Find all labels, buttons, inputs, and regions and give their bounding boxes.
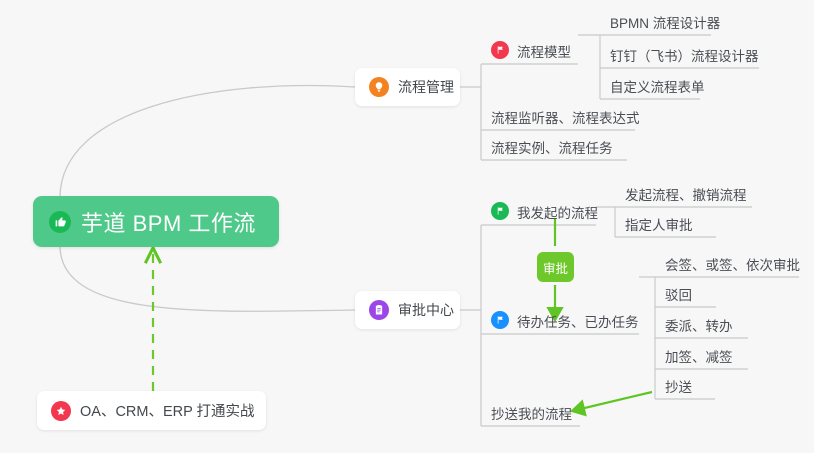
root-node[interactable]: 芋道 BPM 工作流	[33, 196, 279, 247]
flag-icon	[491, 311, 509, 329]
flag-icon	[491, 202, 509, 220]
leaf-label-my-initiated: 我发起的流程	[517, 206, 598, 221]
leaf-label-process-model: 流程模型	[517, 45, 571, 60]
edge-root-to-approval-center	[60, 247, 355, 311]
leaf-label-dingtalk-feishu-designer: 钉钉（飞书）流程设计器	[610, 49, 759, 64]
leaf-delegate-transfer[interactable]: 委派、转办	[665, 318, 733, 338]
leaf-instance-task[interactable]: 流程实例、流程任务	[491, 140, 613, 160]
leaf-my-initiated[interactable]: 我发起的流程	[491, 205, 598, 225]
branch-node-process-management[interactable]: 流程管理	[355, 68, 460, 106]
leaf-bpmn-designer[interactable]: BPMN 流程设计器	[610, 15, 720, 35]
leaf-multi-sign[interactable]: 会签、或签、依次审批	[665, 257, 800, 277]
approval-annotation-chip[interactable]: 审批	[537, 252, 574, 282]
branch-node-approval-center[interactable]: 审批中心	[355, 291, 460, 329]
leaf-label-cc: 抄送	[665, 380, 692, 395]
flag-icon	[491, 41, 509, 59]
leaf-label-instance-task: 流程实例、流程任务	[491, 141, 613, 156]
leaf-label-delegate-transfer: 委派、转办	[665, 319, 733, 334]
bottom-note-node[interactable]: OA、CRM、ERP 打通实战	[37, 391, 266, 430]
edge-root-to-process-management	[60, 86, 355, 196]
leaf-label-cc-to-me: 抄送我的流程	[491, 407, 572, 422]
leaf-label-bpmn-designer: BPMN 流程设计器	[610, 16, 720, 31]
leaf-todo-done-tasks[interactable]: 待办任务、已办任务	[491, 314, 639, 334]
leaf-reject[interactable]: 驳回	[665, 287, 692, 307]
clipboard-icon	[369, 300, 389, 320]
leaf-label-start-cancel: 发起流程、撤销流程	[625, 188, 747, 203]
lightbulb-icon	[369, 77, 389, 97]
mindmap-canvas: 芋道 BPM 工作流 流程管理 审批中心	[0, 0, 814, 453]
bottom-note-label: OA、CRM、ERP 打通实战	[80, 400, 255, 421]
leaf-cc-to-me[interactable]: 抄送我的流程	[491, 406, 572, 426]
arrow-cc-to-cc-to-me	[572, 392, 652, 411]
leaf-assignee-approval[interactable]: 指定人审批	[625, 217, 693, 237]
leaf-label-todo-done-tasks: 待办任务、已办任务	[517, 315, 639, 330]
leaf-label-custom-process-form: 自定义流程表单	[610, 80, 705, 95]
leaf-custom-process-form[interactable]: 自定义流程表单	[610, 79, 705, 99]
leaf-label-reject: 驳回	[665, 288, 692, 303]
leaf-cc[interactable]: 抄送	[665, 379, 692, 399]
leaf-dingtalk-feishu-designer[interactable]: 钉钉（飞书）流程设计器	[610, 48, 759, 68]
thumbs-up-icon	[49, 211, 71, 233]
leaf-label-assignee-approval: 指定人审批	[625, 218, 693, 233]
leaf-listener-expression[interactable]: 流程监听器、流程表达式	[491, 110, 640, 130]
leaf-label-add-remove-sign: 加签、减签	[665, 350, 733, 365]
leaf-label-listener-expression: 流程监听器、流程表达式	[491, 111, 640, 126]
branch-label-approval-center: 审批中心	[398, 300, 454, 320]
leaf-process-model[interactable]: 流程模型	[491, 44, 571, 64]
star-icon	[51, 401, 71, 421]
root-label: 芋道 BPM 工作流	[81, 206, 256, 238]
leaf-add-remove-sign[interactable]: 加签、减签	[665, 349, 733, 369]
leaf-label-multi-sign: 会签、或签、依次审批	[665, 258, 800, 273]
leaf-start-cancel[interactable]: 发起流程、撤销流程	[625, 187, 747, 207]
branch-label-process-management: 流程管理	[398, 77, 454, 97]
approval-annotation-label: 审批	[543, 258, 568, 277]
